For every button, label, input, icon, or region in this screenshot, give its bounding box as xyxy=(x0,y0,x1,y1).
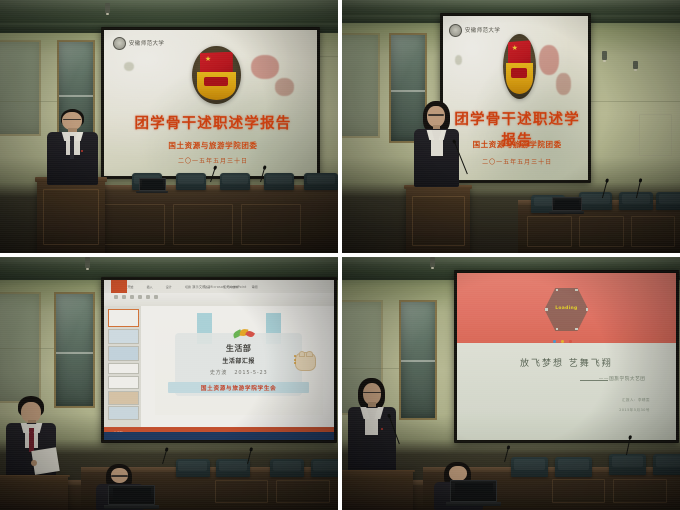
slide-title: 团学骨干述职述学报告 xyxy=(117,112,309,133)
chair xyxy=(216,459,250,477)
glasses-icon xyxy=(428,114,444,116)
slide-thumbnail[interactable] xyxy=(108,406,139,420)
decor-dots xyxy=(294,355,296,364)
ppt-tab[interactable]: 动画 xyxy=(204,285,210,289)
ppt-tab[interactable]: 插入 xyxy=(147,285,153,289)
ppt-tab[interactable]: 设计 xyxy=(166,285,172,289)
photo-panel-bottom-right: Loading 放飞梦想 艺舞飞翔 ——国旅学院大艺团 汇报人：李晴雯 2015… xyxy=(342,257,680,510)
slide-attribution: ——国旅学院大艺团 xyxy=(599,376,646,382)
wall-window xyxy=(342,33,380,138)
slide-powerpoint-editor: 演示文稿 - Microsoft PowerPoint 开始 插入 设计 切换 … xyxy=(104,280,334,439)
slide-subtitle: 国土资源与旅游学院团委 xyxy=(117,140,309,151)
wall-window xyxy=(54,292,95,407)
wall-seam xyxy=(0,101,57,102)
wall-window xyxy=(399,300,437,420)
person-speaker xyxy=(345,378,399,474)
projection-screen: 演示文稿 - Microsoft PowerPoint 开始 插入 设计 切换 … xyxy=(101,277,337,442)
slide-date: 二〇一五年五月三十日 xyxy=(117,156,309,165)
lapel-badge xyxy=(81,150,83,152)
university-seal-icon xyxy=(113,37,126,50)
university-name: 安徽师范大学 xyxy=(465,26,500,34)
slide-subtitle: 国土资源与旅游学院团委 xyxy=(452,139,583,150)
ceiling-lamp-icon xyxy=(85,257,90,268)
ppt-ribbon-icons[interactable] xyxy=(114,295,158,299)
slide-title: 放飞梦想 艺舞飞翔 xyxy=(470,356,663,369)
slide-thumbnail[interactable] xyxy=(108,376,139,389)
wall-window xyxy=(0,40,41,135)
laptop xyxy=(108,485,155,505)
head xyxy=(427,106,444,127)
laptop xyxy=(552,197,582,211)
wall-seam xyxy=(0,348,54,349)
chair xyxy=(176,459,210,477)
ppt-file-tab[interactable] xyxy=(111,280,127,293)
university-name: 安徽师范大学 xyxy=(129,39,164,47)
chair xyxy=(656,192,680,210)
slide-youth-league-report: 安徽师范大学 团学骨干述职述学报告 国土资源与旅游学院团委 二〇一五年五月三十日 xyxy=(443,16,588,180)
photo-panel-top-left: 安徽师范大学 团学骨干述职述学报告 国土资源与旅游学院团委 二〇一五年五月三十日 xyxy=(0,0,338,253)
slide-thumbnail[interactable] xyxy=(108,346,139,361)
ink-splash xyxy=(124,62,135,71)
podium xyxy=(37,177,105,253)
photo-collage: 安徽师范大学 团学骨干述职述学报告 国土资源与旅游学院团委 二〇一五年五月三十日 xyxy=(0,0,680,510)
chair xyxy=(264,173,294,189)
chair xyxy=(220,173,250,189)
ceiling-lamp-icon xyxy=(633,61,638,69)
laptop xyxy=(139,178,166,191)
ink-splash xyxy=(455,55,462,65)
slide-thumbnail[interactable] xyxy=(108,329,139,344)
chair xyxy=(511,457,548,477)
chair xyxy=(609,454,646,474)
slide-art-troupe-report: Loading 放飞梦想 艺舞飞翔 ——国旅学院大艺团 汇报人：李晴雯 2015… xyxy=(457,273,677,440)
laptop xyxy=(450,480,497,503)
chair xyxy=(270,459,304,477)
ppt-ribbon-tabs[interactable]: 开始 插入 设计 切换 动画 幻灯片放映 审阅 xyxy=(127,283,315,291)
chair xyxy=(555,457,592,477)
ink-splash xyxy=(275,78,294,96)
wall-seam xyxy=(342,368,399,369)
projection-screen: Loading 放飞梦想 艺舞飞翔 ——国旅学院大艺团 汇报人：李晴雯 2015… xyxy=(454,270,680,443)
ceiling-lamp-icon xyxy=(602,51,607,60)
chair xyxy=(176,173,206,189)
chair xyxy=(311,459,338,477)
slide-reporter: 汇报人：李晴雯 xyxy=(622,398,650,403)
decor-dots xyxy=(553,340,572,343)
ink-splash xyxy=(539,45,559,75)
necktie xyxy=(70,136,75,159)
slide-youth-league-report: 安徽师范大学 团学骨干述职述学报告 国土资源与旅游学院团委 二〇一五年五月三十日 xyxy=(104,30,317,177)
ppt-tab[interactable]: 开始 xyxy=(127,285,133,289)
ppt-tab[interactable]: 幻灯片放映 xyxy=(223,285,238,289)
loading-hexagon-icon: Loading xyxy=(544,288,588,331)
wall-seam xyxy=(585,101,680,102)
projection-screen: 安徽师范大学 团学骨干述职述学报告 国土资源与旅游学院团委 二〇一五年五月三十日 xyxy=(101,27,320,180)
ppt-tab[interactable]: 切换 xyxy=(185,285,191,289)
glasses-icon xyxy=(111,475,127,477)
wall-notice xyxy=(639,114,671,156)
slide-content: 生活部 生活部汇报 史方波 2015-5-23 国土资源与旅游学院学生会 xyxy=(155,311,323,415)
life-dept-leaf-logo-icon xyxy=(232,328,257,342)
university-seal-icon xyxy=(449,24,462,37)
chair xyxy=(304,173,338,189)
glasses-icon xyxy=(63,119,81,121)
conference-desk xyxy=(95,185,338,253)
photo-panel-bottom-left: 演示文稿 - Microsoft PowerPoint 开始 插入 设计 切换 … xyxy=(0,257,338,510)
university-logo: 安徽师范大学 xyxy=(113,37,164,50)
podium xyxy=(0,475,68,510)
podium xyxy=(406,185,470,253)
chair xyxy=(653,454,680,474)
slide-date: 二〇一五年五月三十日 xyxy=(452,157,583,166)
slide-organization: 国土资源与旅游学院学生会 xyxy=(168,382,309,393)
youth-league-emblem-icon xyxy=(503,34,536,100)
cat-mascot-icon xyxy=(295,352,315,371)
slide-thumbnail[interactable] xyxy=(108,309,139,327)
hand xyxy=(31,460,37,466)
ppt-tab[interactable]: 审阅 xyxy=(252,285,258,289)
podium xyxy=(342,470,413,510)
person-speaker xyxy=(3,396,60,487)
life-dept-logo-text: 生活部 xyxy=(155,343,323,354)
youth-league-emblem-icon xyxy=(192,46,241,105)
ink-splash xyxy=(556,73,571,94)
slide-date: 2015年5月30号 xyxy=(619,408,650,413)
slide-thumbnail[interactable] xyxy=(108,391,139,405)
person-speaker xyxy=(44,109,101,185)
photo-panel-top-right: 安徽师范大学 团学骨干述职述学报告 国土资源与旅游学院团委 二〇一五年五月三十日 xyxy=(342,0,680,253)
hexagon-label: Loading xyxy=(544,306,588,311)
windows-taskbar[interactable] xyxy=(104,432,334,439)
ppt-slide-canvas-area[interactable]: 生活部 生活部汇报 史方波 2015-5-23 国土资源与旅游学院学生会 xyxy=(141,306,334,427)
chair xyxy=(579,192,613,210)
university-logo: 安徽师范大学 xyxy=(449,24,500,37)
ink-splash xyxy=(251,55,279,80)
ceiling-lamp-icon xyxy=(105,3,110,13)
ppt-slide-thumbnail-panel[interactable] xyxy=(104,306,142,427)
slide-thumbnail[interactable] xyxy=(108,363,139,375)
ceiling-lamp-icon xyxy=(430,257,435,267)
